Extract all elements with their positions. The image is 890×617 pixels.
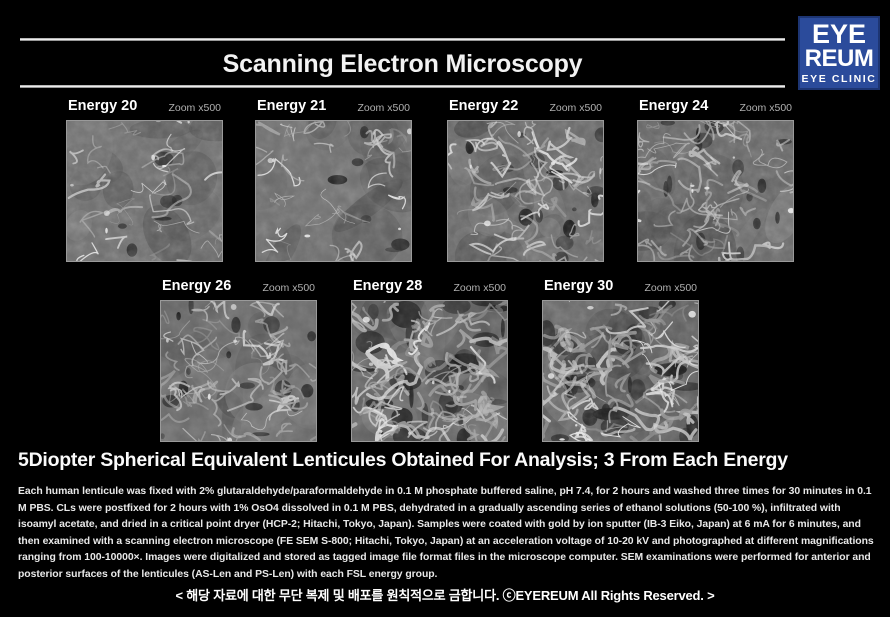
header-rule-top <box>20 38 785 41</box>
panel-zoom-label: Zoom x500 <box>357 102 410 114</box>
micrograph-panel-energy-22: Energy 22Zoom x500 <box>447 98 604 262</box>
copyright-footer: < 해당 자료에 대한 무단 복제 및 배포를 원칙적으로 금합니다. ⓒEYE… <box>0 585 890 604</box>
panel-zoom-label: Zoom x500 <box>262 282 315 294</box>
micrograph-panel-energy-30: Energy 30Zoom x500 <box>542 278 699 442</box>
methods-paragraph: Each human lenticule was fixed with 2% g… <box>18 484 874 584</box>
sem-micrograph-image <box>447 120 604 262</box>
sem-micrograph-image <box>255 120 412 262</box>
panel-energy-label: Energy 20 <box>68 98 137 114</box>
panel-header: Energy 26Zoom x500 <box>160 278 317 300</box>
header-rule-bottom <box>20 85 785 88</box>
micrograph-panel-energy-24: Energy 24Zoom x500 <box>637 98 794 262</box>
figure-caption: 5Diopter Spherical Equivalent Lenticules… <box>18 449 872 472</box>
panel-energy-label: Energy 26 <box>162 278 231 294</box>
sem-micrograph-image <box>542 300 699 442</box>
page-header: Scanning Electron Microscopy <box>0 0 890 92</box>
panel-header: Energy 28Zoom x500 <box>351 278 508 300</box>
sem-micrograph-image <box>637 120 794 262</box>
panel-header: Energy 20Zoom x500 <box>66 98 223 120</box>
panel-header: Energy 24Zoom x500 <box>637 98 794 120</box>
panel-zoom-label: Zoom x500 <box>644 282 697 294</box>
logo-line-reum: REUM <box>805 47 874 71</box>
panel-zoom-label: Zoom x500 <box>549 102 602 114</box>
panel-energy-label: Energy 30 <box>544 278 613 294</box>
sem-micrograph-image <box>160 300 317 442</box>
panel-energy-label: Energy 28 <box>353 278 422 294</box>
panel-header: Energy 30Zoom x500 <box>542 278 699 300</box>
panel-zoom-label: Zoom x500 <box>168 102 221 114</box>
sem-micrograph-image <box>351 300 508 442</box>
panel-zoom-label: Zoom x500 <box>453 282 506 294</box>
page-title: Scanning Electron Microscopy <box>20 44 785 84</box>
sem-micrograph-image <box>66 120 223 262</box>
panel-header: Energy 21Zoom x500 <box>255 98 412 120</box>
panel-energy-label: Energy 21 <box>257 98 326 114</box>
panel-energy-label: Energy 24 <box>639 98 708 114</box>
eyereum-logo: EYE REUM EYE CLINIC <box>798 16 880 90</box>
panel-zoom-label: Zoom x500 <box>739 102 792 114</box>
micrograph-panel-energy-21: Energy 21Zoom x500 <box>255 98 412 262</box>
panel-header: Energy 22Zoom x500 <box>447 98 604 120</box>
micrograph-panel-energy-28: Energy 28Zoom x500 <box>351 278 508 442</box>
logo-line-eye: EYE <box>812 21 866 47</box>
panel-energy-label: Energy 22 <box>449 98 518 114</box>
micrograph-panel-energy-26: Energy 26Zoom x500 <box>160 278 317 442</box>
logo-line-eye-clinic: EYE CLINIC <box>802 71 877 87</box>
micrograph-panel-energy-20: Energy 20Zoom x500 <box>66 98 223 262</box>
